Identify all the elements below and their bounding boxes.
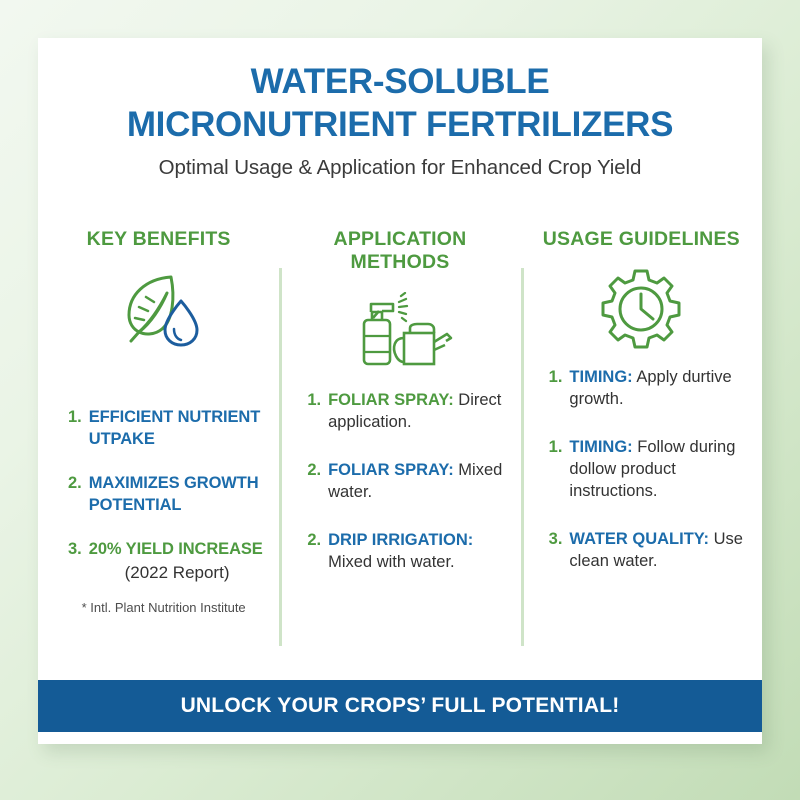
list-item: 2. DRIP IRRIGATION: Mixed with water. bbox=[307, 530, 506, 574]
list-term: FOLIAR SPRAY: bbox=[328, 461, 454, 479]
list-text: WATER QUALITY: Use clean water. bbox=[569, 529, 748, 573]
list-number: 2. bbox=[68, 473, 82, 517]
spray-bottle-watering-can-icon bbox=[293, 280, 506, 384]
leaf-waterdrop-icon bbox=[52, 257, 265, 361]
list-number: 2. bbox=[307, 460, 321, 504]
list-text: 20% YIELD INCREASE (2022 Report) bbox=[89, 539, 266, 585]
list-number: 3. bbox=[549, 529, 563, 573]
page-title: WATER-SOLUBLE MICRONUTRIENT FERTRILIZERS bbox=[38, 60, 762, 147]
list-item: 2. MAXIMIZES GROWTH POTENTIAL bbox=[68, 473, 265, 517]
list-number: 1. bbox=[549, 367, 563, 411]
footnote-source: * Intl. Plant Nutrition Institute bbox=[52, 600, 265, 615]
list-term: FOLIAR SPRAY: bbox=[328, 391, 454, 409]
list-item: 2. FOLIAR SPRAY: Mixed water. bbox=[307, 460, 506, 504]
list-item: 1. EFFICIENT NUTRIENT UTPAKE bbox=[68, 407, 265, 451]
list-text: TIMING: Follow during dollow product ins… bbox=[569, 437, 748, 503]
columns-container: KEY BENEFITS 1. EFFICIENT NUTRIENT UTPAK… bbox=[38, 228, 762, 688]
list-term: TIMING: bbox=[569, 438, 632, 456]
list-number: 1. bbox=[307, 390, 321, 434]
clock-gear-icon bbox=[535, 257, 748, 361]
column-key-benefits: KEY BENEFITS 1. EFFICIENT NUTRIENT UTPAK… bbox=[38, 228, 279, 688]
column-usage-guidelines: USAGE GUIDELINES 1. TIMING: Apply durtiv… bbox=[521, 228, 762, 688]
list-number: 2. bbox=[307, 530, 321, 574]
list-text: DRIP IRRIGATION: Mixed with water. bbox=[328, 530, 507, 574]
list-term: MAXIMIZES GROWTH POTENTIAL bbox=[89, 474, 259, 514]
list-term: 20% YIELD INCREASE bbox=[89, 540, 263, 558]
list-number: 3. bbox=[68, 539, 82, 585]
title-line-1: WATER-SOLUBLE bbox=[38, 60, 762, 103]
column-heading-key-benefits: KEY BENEFITS bbox=[52, 228, 265, 251]
list-text: EFFICIENT NUTRIENT UTPAKE bbox=[89, 407, 266, 451]
list-term: DRIP IRRIGATION: bbox=[328, 531, 473, 549]
list-item: 3. 20% YIELD INCREASE (2022 Report) bbox=[68, 539, 265, 585]
header: WATER-SOLUBLE MICRONUTRIENT FERTRILIZERS… bbox=[38, 38, 762, 180]
banner-text: UNLOCK YOUR CROPS’ FULL POTENTIAL! bbox=[181, 694, 620, 718]
list-item: 1. TIMING: Follow during dollow product … bbox=[549, 437, 748, 503]
list-item: 3. WATER QUALITY: Use clean water. bbox=[549, 529, 748, 573]
list-text: TIMING: Apply durtive growth. bbox=[569, 367, 748, 411]
title-line-2: MICRONUTRIENT FERTRILIZERS bbox=[38, 103, 762, 146]
list-text: MAXIMIZES GROWTH POTENTIAL bbox=[89, 473, 266, 517]
list-number: 1. bbox=[68, 407, 82, 451]
list-number: 1. bbox=[549, 437, 563, 503]
list-term: EFFICIENT NUTRIENT UTPAKE bbox=[89, 408, 260, 448]
call-to-action-banner: UNLOCK YOUR CROPS’ FULL POTENTIAL! bbox=[38, 680, 762, 732]
list-item: 1. TIMING: Apply durtive growth. bbox=[549, 367, 748, 411]
benefits-list: 1. EFFICIENT NUTRIENT UTPAKE 2. MAXIMIZE… bbox=[52, 407, 265, 584]
column-application-methods: APPLICATION METHODS bbox=[279, 228, 520, 688]
list-text: FOLIAR SPRAY: Mixed water. bbox=[328, 460, 507, 504]
page-subtitle: Optimal Usage & Application for Enhanced… bbox=[38, 156, 762, 180]
list-term: WATER QUALITY: bbox=[569, 530, 709, 548]
list-item: 1. FOLIAR SPRAY: Direct application. bbox=[307, 390, 506, 434]
list-term: TIMING: bbox=[569, 368, 632, 386]
list-text: FOLIAR SPRAY: Direct application. bbox=[328, 390, 507, 434]
list-rest: Mixed with water. bbox=[328, 553, 455, 571]
column-heading-application-methods: APPLICATION METHODS bbox=[293, 228, 506, 274]
usage-list: 1. TIMING: Apply durtive growth. 1. TIMI… bbox=[535, 367, 748, 573]
infographic-card: WATER-SOLUBLE MICRONUTRIENT FERTRILIZERS… bbox=[38, 38, 762, 744]
list-subnote: (2022 Report) bbox=[89, 562, 266, 585]
column-heading-usage-guidelines: USAGE GUIDELINES bbox=[535, 228, 748, 251]
methods-list: 1. FOLIAR SPRAY: Direct application. 2. … bbox=[293, 390, 506, 574]
